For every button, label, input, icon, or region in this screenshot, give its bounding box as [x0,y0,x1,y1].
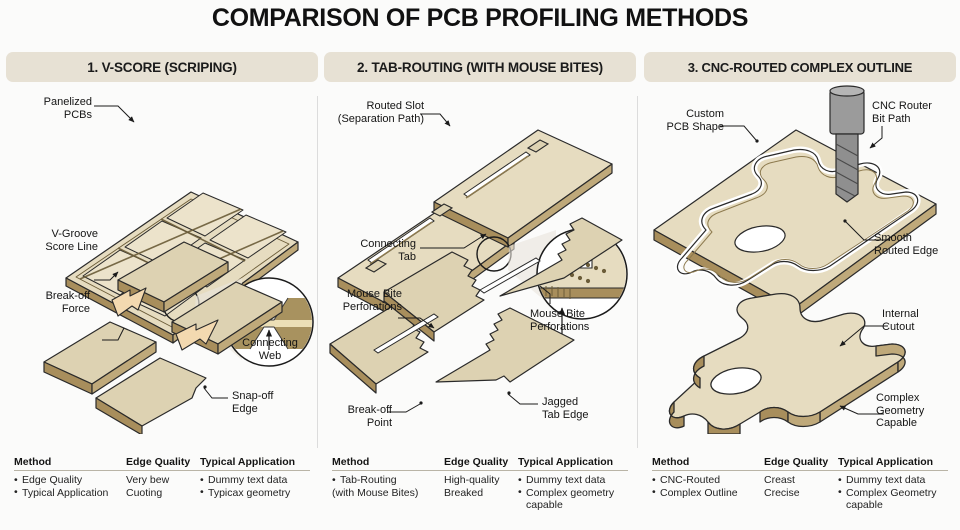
label-mouse-bite-perforations-detail: Mouse BitePerforations [530,308,630,333]
label-snap-off-edge: Snap-offEdge [232,390,312,415]
table-row: Edge Quality Typical Application Very be… [14,474,310,499]
cell-app-1: Complex Geometry [838,487,948,500]
panel-v-score: 1. V-SCORE (SCRIPING) [6,52,318,530]
label-complex-geometry-capable: ComplexGeometryCapable [876,392,956,430]
table-rule [652,470,948,471]
table-row: Tab-Routing (with Mouse Bites) High-qual… [332,474,628,512]
cell-method-0: CNC-Routed [652,474,764,487]
table-rule [332,470,628,471]
table-header-application: Typical Application [518,456,628,468]
label-v-groove-score-line: V-GrooveScore Line [6,228,98,253]
spec-table-2: Method Edge Quality Typical Application … [332,456,628,512]
panel-header-1: 1. V-SCORE (SCRIPING) [6,52,318,82]
cell-app-1: Complex geometry [518,487,628,500]
cell-method-0: Tab-Routing [332,474,444,487]
label-routed-slot: Routed Slot(Separation Path) [324,100,424,125]
cell-method-1: Typical Application [14,487,126,500]
illustration-v-score: PanelizedPCBs V-GrooveScore Line Connect… [6,82,318,434]
label-panelized-pcbs: PanelizedPCBs [8,96,92,121]
cell-app-2: capable [518,499,628,512]
label-connecting-web: ConnectingWeb [226,337,314,362]
table-header-edge-quality: Edge Quality [764,456,838,468]
cell-edge-0: High-quality [444,474,518,487]
spec-table-3: Method Edge Quality Typical Application … [652,456,948,512]
finished-part [669,294,905,434]
cell-edge-1: Crecise [764,487,838,500]
spec-table-1: Method Edge Quality Typical Application … [14,456,310,499]
cell-app-0: Dummy text data [200,474,310,487]
table-header-application: Typical Application [838,456,948,468]
table-header-method: Method [332,456,444,468]
cell-edge-1: Cuoting [126,487,200,500]
cell-edge-1: Breaked [444,487,518,500]
panel-header-2: 2. TAB-ROUTING (WITH MOUSE BITES) [324,52,636,82]
table-header-application: Typical Application [200,456,310,468]
cell-method-1: (with Mouse Bites) [332,487,444,500]
table-header-method: Method [652,456,764,468]
label-jagged-tab-edge: JaggedTab Edge [542,396,622,421]
cell-method-1: Complex Outline [652,487,764,500]
cell-method-0: Edge Quality [14,474,126,487]
label-mouse-bite-perforations: Mouse BitePerforations [324,288,402,313]
panel-cnc-routed: 3. CNC-ROUTED COMPLEX OUTLINE [644,52,956,530]
cell-app-0: Dummy text data [838,474,948,487]
table-header-method: Method [14,456,126,468]
label-custom-pcb-shape: CustomPCB Shape [644,108,724,133]
cell-app-1: Typicax geometry [200,487,310,500]
table-row: CNC-Routed Complex Outline Creast Crecis… [652,474,948,512]
label-break-off-point: Break-offPoint [324,404,392,429]
cell-edge-0: Creast [764,474,838,487]
panel-header-3: 3. CNC-ROUTED COMPLEX OUTLINE [644,52,956,82]
label-internal-cutout: InternalCutout [882,308,956,333]
table-header-edge-quality: Edge Quality [444,456,518,468]
cell-app-2: capable [838,499,948,512]
label-smooth-routed-edge: SmoothRouted Edge [874,232,956,257]
cell-app-0: Dummy text data [518,474,628,487]
panel-divider-2 [637,96,638,448]
label-break-off-force: Break-offForce [8,290,90,315]
label-connecting-tab: ConnectingTab [324,238,416,263]
illustration-cnc-routed: CustomPCB Shape CNC RouterBit Path Smoot… [644,82,956,434]
label-cnc-router-bit-path: CNC RouterBit Path [872,100,956,125]
page-title: COMPARISON OF PCB PROFILING METHODS [0,4,960,33]
cell-edge-0: Very bew [126,474,200,487]
illustration-tab-routing: Routed Slot(Separation Path) ConnectingT… [324,82,636,434]
panel-tab-routing: 2. TAB-ROUTING (WITH MOUSE BITES) [324,52,636,530]
table-header-edge-quality: Edge Quality [126,456,200,468]
table-rule [14,470,310,471]
